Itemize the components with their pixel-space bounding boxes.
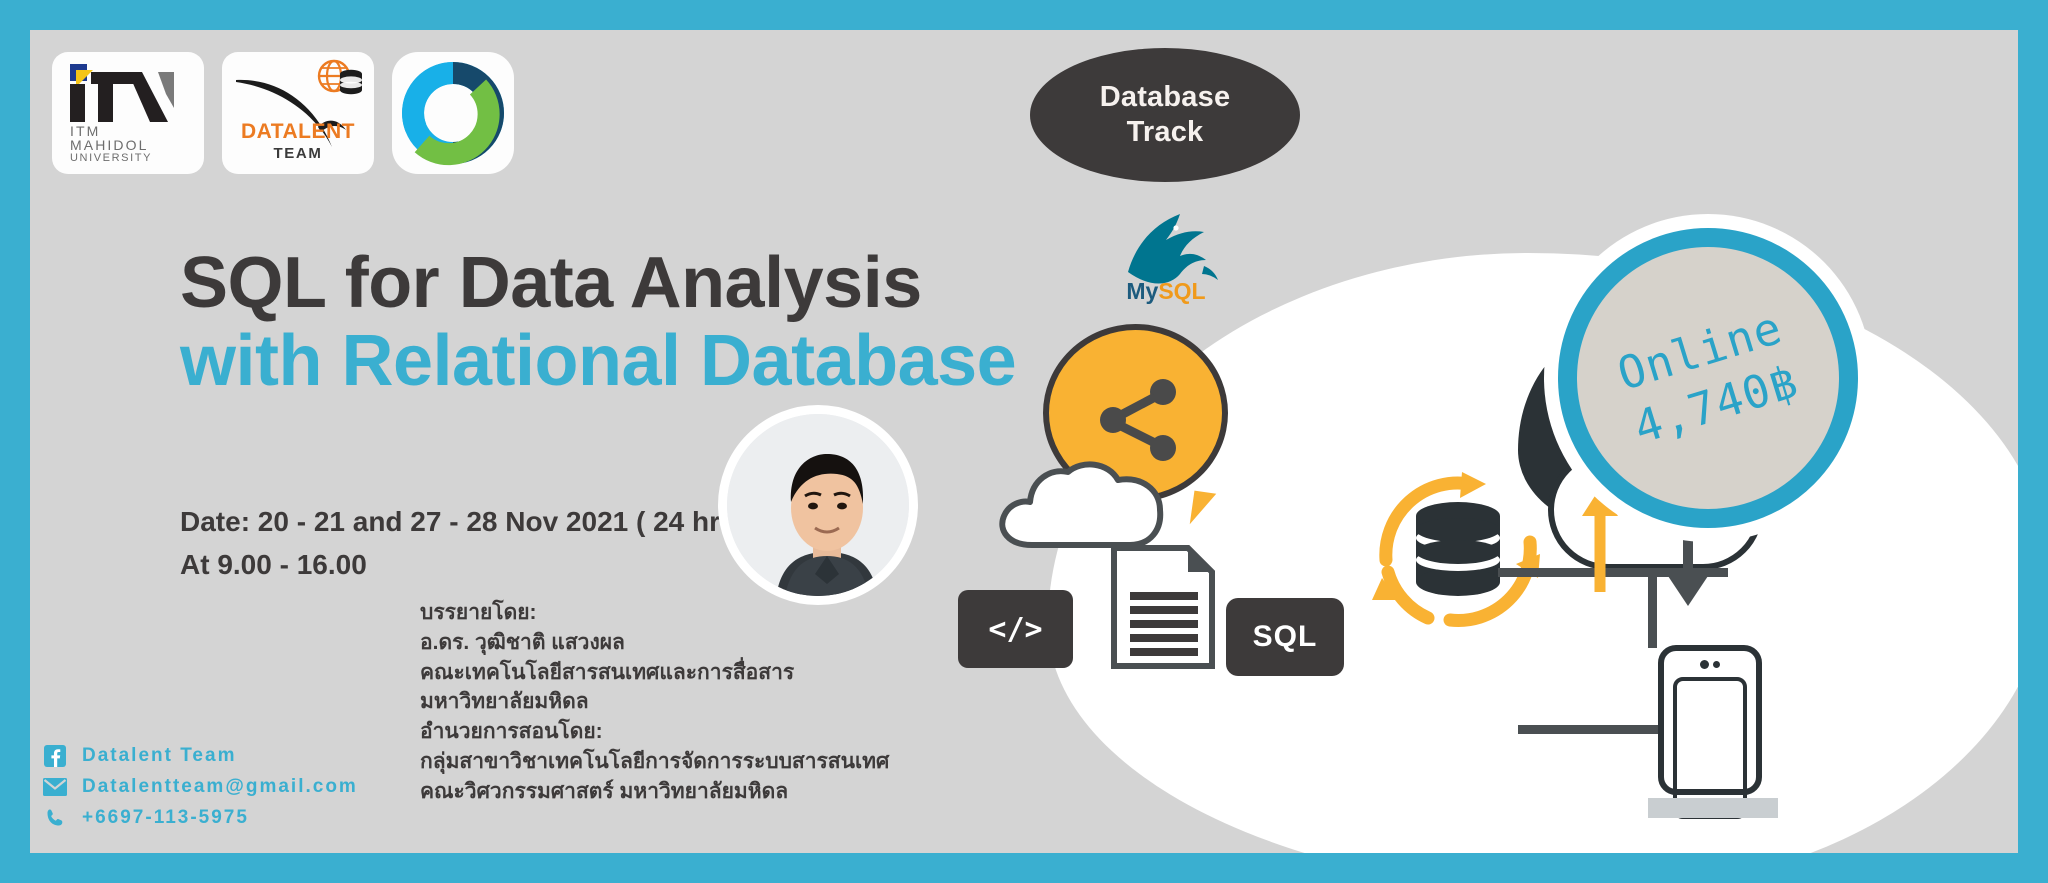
mysql-sql-text: SQL [1158,278,1205,304]
email-icon [42,774,68,800]
logo-row: ITM MAHIDOL UNIVERSITY [52,52,514,174]
code-tile-label: </> [988,612,1042,647]
poster-root: ITM MAHIDOL UNIVERSITY [0,0,2048,883]
page-title: SQL for Data Analysis with Relational Da… [180,245,1016,401]
speaker-line: คณะวิศวกรรมศาสตร์ มหาวิทยาลัยมหิดล [420,777,889,807]
phone-number: +6697-113-5975 [82,807,249,829]
mysql-wordmark: MySQL [1106,278,1226,305]
illustration: MySQL [958,150,2018,853]
ring-logo-icon [392,52,514,174]
speaker-line: กลุ่มสาขาวิชาเทคโนโลยีการจัดการระบบสารสน… [420,747,889,777]
itm-line-2: MAHIDOL [70,138,152,152]
database-cylinder-icon [1358,450,1558,650]
facebook-handle: Datalent Team [82,745,236,767]
email-address: Datalentteam@gmail.com [82,776,358,798]
itm-logo-mark [70,64,190,122]
itm-logo-text: ITM MAHIDOL UNIVERSITY [70,124,152,164]
contact-block: Datalent Team Datalentteam@gmail.com [42,740,358,833]
mysql-my-text: My [1126,278,1158,304]
datalent-line-2: TEAM [222,145,374,162]
sql-tile-icon: SQL [1226,598,1344,676]
speaker-photo [718,405,918,605]
smartphone-icon [1658,645,1762,795]
contact-facebook[interactable]: Datalent Team [42,740,358,771]
connector-bar-vertical [1648,568,1657,648]
itm-line-3: UNIVERSITY [70,153,152,164]
poster-panel: ITM MAHIDOL UNIVERSITY [30,30,2018,853]
code-tile-icon: </> [958,590,1073,668]
track-badge-line-1: Database [1100,81,1231,114]
monitor-base [1648,798,1778,818]
datalent-line-1: DATALENT [222,120,374,144]
itm-line-1: ITM [70,124,152,138]
speaker-line: อำนวยการสอนโดย: [420,717,889,747]
price-badge: Online 4,740฿ [1558,228,1858,528]
speaker-portrait-icon [727,414,918,605]
speaker-line: มหาวิทยาลัยมหิดล [420,687,889,717]
phone-camera-dot-small [1713,661,1720,668]
phone-camera-dot [1700,660,1709,669]
date-line: Date: 20 - 21 and 27 - 28 Nov 2021 ( 24 … [180,500,745,543]
track-badge-line-2: Track [1127,116,1204,149]
cloud-icon [992,450,1182,555]
contact-email[interactable]: Datalentteam@gmail.com [42,771,358,802]
title-line-2: with Relational Database [180,323,1016,401]
itm-mahidol-logo: ITM MAHIDOL UNIVERSITY [52,52,204,174]
contact-phone[interactable]: +6697-113-5975 [42,802,358,833]
speaker-line: คณะเทคโนโลยีสารสนเทศและการสื่อสาร [420,658,889,688]
time-line: At 9.00 - 16.00 [180,543,745,586]
webex-ring-logo [392,52,514,174]
document-icon [1108,542,1218,672]
date-block: Date: 20 - 21 and 27 - 28 Nov 2021 ( 24 … [180,500,745,587]
speaker-info-block: บรรยายโดย: อ.ดร. วุฒิชาติ แสวงผล คณะเทคโ… [420,598,889,807]
title-line-1: SQL for Data Analysis [180,245,1016,323]
connector-bar-left [1518,725,1668,734]
sql-tile-label: SQL [1253,620,1318,654]
speaker-line: อ.ดร. วุฒิชาติ แสวงผล [420,628,889,658]
datalent-team-logo: DATALENT TEAM [222,52,374,174]
facebook-icon [42,743,68,769]
phone-icon [42,805,68,831]
